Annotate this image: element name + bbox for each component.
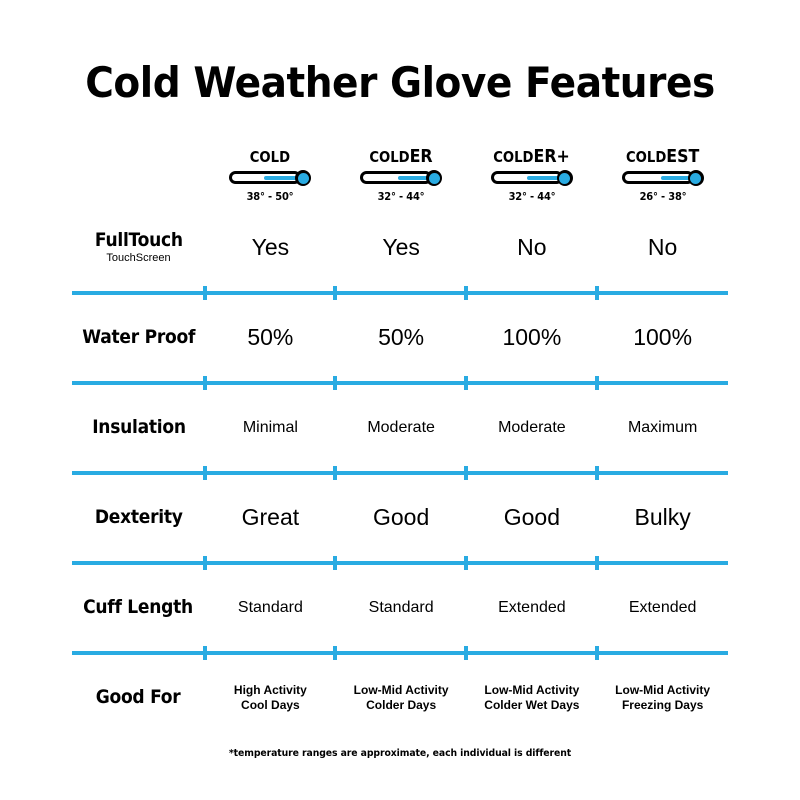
divider-tick: [333, 556, 337, 570]
divider-tick: [464, 556, 468, 570]
column-title: COLDER+: [494, 148, 571, 166]
divider-tick: [464, 466, 468, 480]
cell-value: Moderate: [367, 419, 435, 437]
table-row: Cuff Length Standard Standard Extended E…: [72, 578, 728, 638]
column-title-suffix: ER: [410, 146, 433, 167]
row-label-cell: Cuff Length: [72, 578, 205, 638]
table-cell: No: [467, 218, 598, 278]
glove-features-page: Cold Weather Glove Features COLD 38° - 5…: [0, 0, 800, 800]
row-label: Insulation: [92, 418, 186, 438]
divider-tick: [203, 646, 207, 660]
cell-value: 50%: [247, 325, 293, 350]
column-title-suffix: ER+: [534, 146, 570, 167]
divider-tick: [333, 286, 337, 300]
cell-value: No: [517, 235, 546, 260]
row-divider-wrap: [72, 278, 728, 308]
thermometer-icon: [360, 170, 442, 186]
table-cell: 50%: [205, 308, 336, 368]
column-temp-range: 32° - 44°: [508, 191, 555, 202]
divider-tick: [203, 286, 207, 300]
row-label-cell: Dexterity: [72, 488, 205, 548]
table-cell: No: [597, 218, 728, 278]
thermometer-icon: [491, 170, 573, 186]
row-divider: [72, 291, 728, 295]
column-temp-range: 32° - 44°: [378, 191, 425, 202]
divider-tick: [333, 646, 337, 660]
table-cell: 100%: [467, 308, 598, 368]
row-label: Cuff Length: [84, 598, 194, 618]
column-title-suffix: EST: [666, 146, 699, 167]
row-divider: [72, 381, 728, 385]
table-cell: Moderate: [336, 398, 467, 458]
cell-value: Great: [242, 505, 300, 530]
row-divider: [72, 471, 728, 475]
cell-value: Standard: [238, 599, 303, 617]
column-header-cold: COLD 38° - 50°: [205, 140, 336, 218]
divider-tick: [203, 556, 207, 570]
cell-value: Bulky: [635, 505, 691, 530]
table-cell: Maximum: [597, 398, 728, 458]
cell-value: Good: [373, 505, 429, 530]
cell-value: 100%: [502, 325, 561, 350]
table-cell: Moderate: [467, 398, 598, 458]
column-title-prefix: COLD: [250, 148, 290, 166]
thermometer-bulb-icon: [426, 170, 442, 186]
thermometer-bulb-icon: [557, 170, 573, 186]
table-row: Dexterity Great Good Good Bulky: [72, 488, 728, 548]
divider-tick: [595, 556, 599, 570]
cell-value: Yes: [252, 235, 290, 260]
table-header-row: COLD 38° - 50° COLDER 32° - 44° COLD: [72, 140, 728, 218]
column-temp-range: 38° - 50°: [247, 191, 294, 202]
table-cell: Minimal: [205, 398, 336, 458]
row-label-cell: Insulation: [72, 398, 205, 458]
divider-tick: [595, 286, 599, 300]
cell-value: Moderate: [498, 419, 566, 437]
thermometer-bulb-icon: [688, 170, 704, 186]
cell-value: Standard: [369, 599, 434, 617]
cell-value: Extended: [498, 599, 566, 617]
table-cell: Extended: [467, 578, 598, 638]
table-cell: Yes: [205, 218, 336, 278]
table-row: Water Proof 50% 50% 100% 100%: [72, 308, 728, 368]
table-cell: Extended: [597, 578, 728, 638]
row-divider-wrap: [72, 638, 728, 668]
cell-value: Maximum: [628, 419, 697, 437]
divider-tick: [333, 466, 337, 480]
cell-value: 50%: [378, 325, 424, 350]
comparison-table: COLD 38° - 50° COLDER 32° - 44° COLD: [72, 140, 728, 728]
divider-tick: [464, 646, 468, 660]
row-divider-wrap: [72, 458, 728, 488]
table-cell: High Activity Cool Days: [205, 668, 336, 728]
header-empty-cell: [72, 140, 205, 218]
row-label: Good For: [96, 688, 181, 708]
divider-tick: [333, 376, 337, 390]
table-cell: 50%: [336, 308, 467, 368]
column-header-coldest: COLDEST 26° - 38°: [597, 140, 728, 218]
table-cell: Good: [336, 488, 467, 548]
thermometer-bulb-icon: [295, 170, 311, 186]
row-divider: [72, 651, 728, 655]
column-title: COLD: [250, 148, 290, 166]
column-title-prefix: COLD: [626, 148, 666, 166]
table-cell: Great: [205, 488, 336, 548]
row-label: Dexterity: [95, 508, 183, 528]
divider-tick: [595, 376, 599, 390]
row-divider-wrap: [72, 548, 728, 578]
column-title: COLDEST: [626, 148, 699, 166]
column-header-colder-plus: COLDER+ 32° - 44°: [467, 140, 598, 218]
column-header-colder: COLDER 32° - 44°: [336, 140, 467, 218]
divider-tick: [203, 466, 207, 480]
table-cell: Yes: [336, 218, 467, 278]
row-divider: [72, 561, 728, 565]
thermometer-icon: [229, 170, 311, 186]
table-cell: Bulky: [597, 488, 728, 548]
table-cell: Standard: [205, 578, 336, 638]
row-label-stack: FullTouch TouchScreen: [90, 231, 188, 264]
divider-tick: [595, 466, 599, 480]
cell-value-line2: Freezing Days: [622, 698, 703, 713]
table-cell: Good: [467, 488, 598, 548]
row-label-cell: FullTouch TouchScreen: [72, 218, 205, 278]
row-label-cell: Water Proof: [72, 308, 205, 368]
table-cell: Low-Mid Activity Colder Days: [336, 668, 467, 728]
table-cell: Low-Mid Activity Freezing Days: [597, 668, 728, 728]
row-divider-wrap: [72, 368, 728, 398]
column-title-prefix: COLD: [369, 148, 409, 166]
table-row: Good For High Activity Cool Days Low-Mid…: [72, 668, 728, 728]
row-sublabel: TouchScreen: [106, 252, 170, 264]
column-temp-range: 26° - 38°: [639, 191, 686, 202]
cell-value: Good: [504, 505, 560, 530]
table-row: Insulation Minimal Moderate Moderate Max…: [72, 398, 728, 458]
divider-tick: [595, 646, 599, 660]
thermometer-icon: [622, 170, 704, 186]
divider-tick: [464, 286, 468, 300]
table-cell: 100%: [597, 308, 728, 368]
cell-value-line2: Cool Days: [241, 698, 300, 713]
row-label-cell: Good For: [72, 668, 205, 728]
table-cell: Low-Mid Activity Colder Wet Days: [467, 668, 598, 728]
cell-value: No: [648, 235, 677, 260]
cell-value: Extended: [629, 599, 697, 617]
row-label: Water Proof: [82, 328, 195, 348]
cell-value-line1: High Activity: [234, 683, 307, 698]
cell-value-line1: Low-Mid Activity: [615, 683, 710, 698]
table-row: FullTouch TouchScreen Yes Yes No No: [72, 218, 728, 278]
page-title: Cold Weather Glove Features: [28, 58, 772, 107]
cell-value: 100%: [633, 325, 692, 350]
cell-value-line2: Colder Wet Days: [484, 698, 579, 713]
cell-value-line1: Low-Mid Activity: [354, 683, 449, 698]
cell-value: Minimal: [243, 419, 298, 437]
cell-value-line1: Low-Mid Activity: [484, 683, 579, 698]
column-title-prefix: COLD: [494, 148, 534, 166]
table-cell: Standard: [336, 578, 467, 638]
column-title: COLDER: [369, 148, 432, 166]
row-label: FullTouch: [95, 231, 183, 251]
cell-value-line2: Colder Days: [366, 698, 436, 713]
divider-tick: [203, 376, 207, 390]
divider-tick: [464, 376, 468, 390]
cell-value: Yes: [382, 235, 420, 260]
footnote: *temperature ranges are approximate, eac…: [28, 748, 772, 759]
